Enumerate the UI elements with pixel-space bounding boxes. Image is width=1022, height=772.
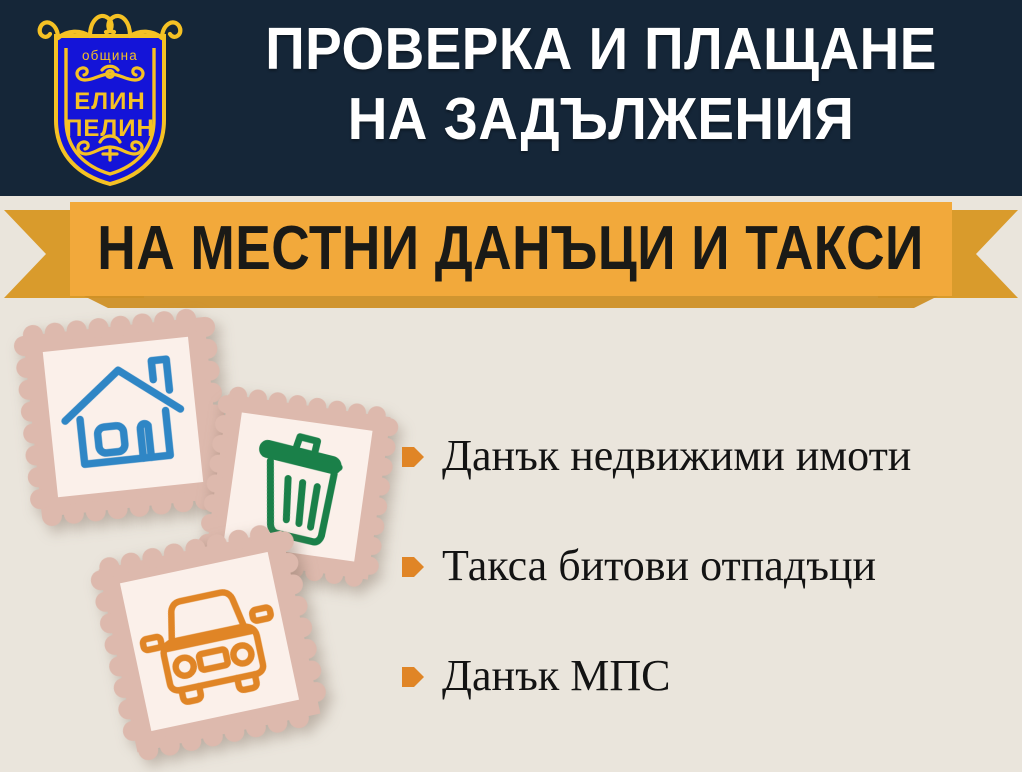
page-title-line-1: ПРОВЕРКА И ПЛАЩАНЕ (223, 14, 978, 84)
list-item-label: Такса битови отпадъци (442, 541, 876, 591)
poster-root: община ЕЛИН ПЕЛИН (0, 0, 1022, 772)
subtitle-ribbon: НА МЕСТНИ ДАНЪЦИ И ТАКСИ (0, 196, 1022, 316)
services-list: Данък недвижими имоти Такса битови отпад… (402, 430, 1017, 760)
ribbon-band: НА МЕСТНИ ДАНЪЦИ И ТАКСИ (70, 202, 952, 296)
crest-top-label: община (82, 48, 138, 63)
stamp-card-car (82, 514, 337, 769)
arrow-bullet-icon (402, 664, 424, 690)
page-title-line-2: НА ЗАДЪЛЖЕНИЯ (223, 84, 978, 154)
arrow-bullet-icon (402, 444, 424, 470)
list-item[interactable]: Данък недвижими имоти (402, 430, 1017, 482)
list-item-label: Данък недвижими имоти (442, 431, 911, 481)
arrow-bullet-icon (402, 554, 424, 580)
header-title-group: ПРОВЕРКА И ПЛАЩАНЕ НА ЗАДЪЛЖЕНИЯ (195, 14, 1007, 154)
crest-name-line1: ЕЛИН (74, 88, 145, 115)
list-item-label: Данък МПС (442, 651, 670, 701)
header-bar: община ЕЛИН ПЕЛИН (0, 0, 1022, 196)
list-item[interactable]: Данък МПС (402, 650, 1017, 702)
ribbon-text: НА МЕСТНИ ДАНЪЦИ И ТАКСИ (98, 218, 925, 280)
crest-name-line2: ПЕЛИН (65, 115, 155, 142)
list-item[interactable]: Такса битови отпадъци (402, 540, 1017, 592)
municipality-crest-logo: община ЕЛИН ПЕЛИН (30, 8, 190, 188)
